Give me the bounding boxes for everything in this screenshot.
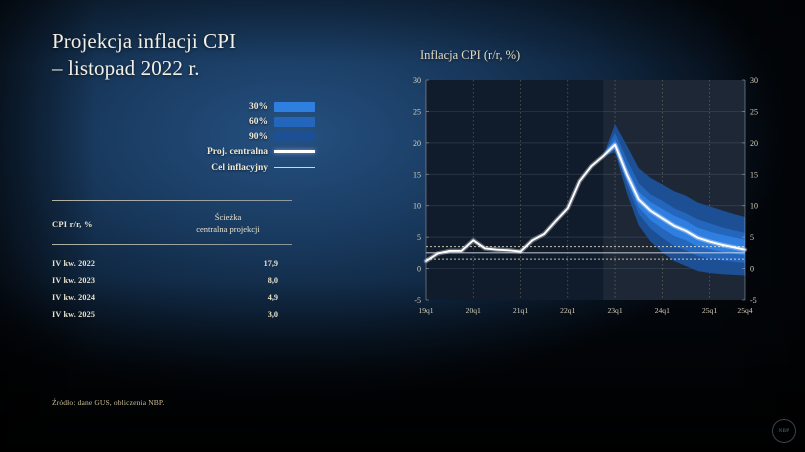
legend-line-central-projection (274, 150, 315, 153)
table-body: IV kw. 202217,9IV kw. 20238,0IV kw. 2024… (52, 255, 292, 323)
table-cell-period: IV kw. 2024 (52, 293, 164, 302)
legend-item-90: 90% (150, 130, 315, 143)
y-axis-tick-label-left: 10 (413, 202, 421, 211)
x-axis-tick-label: 25q1 (702, 306, 717, 315)
y-axis-tick-label-right: 30 (750, 76, 758, 85)
source-note: Źródło: dane GUS, obliczenia NBP. (52, 398, 164, 407)
table-header-col2: Ścieżka centralna projekcji (164, 211, 292, 236)
legend-label-90: 90% (249, 132, 268, 142)
y-axis-tick-label-left: 0 (417, 265, 421, 274)
x-axis-tick-label: 22q1 (560, 306, 575, 315)
x-axis-tick-label: 23q1 (607, 306, 622, 315)
x-axis-tick-label: 24q1 (655, 306, 670, 315)
y-axis-tick-label-right: -5 (750, 296, 757, 305)
table-cell-value: 3,0 (164, 310, 292, 319)
chart-legend: 30% 60% 90% Proj. centralna Cel inflacyj… (150, 100, 315, 177)
table-cell-period: IV kw. 2023 (52, 276, 164, 285)
table-rule-top (52, 200, 292, 201)
chart-canvas: 303025252020151510105500-5-519q120q121q1… (398, 40, 773, 315)
y-axis-tick-label-left: 20 (413, 139, 421, 148)
legend-line-inflation-target (274, 167, 315, 169)
title-line-2: – listopad 2022 r. (52, 55, 382, 82)
legend-label-60: 60% (249, 117, 268, 127)
legend-label-inflation-target: Cel inflacyjny (211, 163, 268, 173)
y-axis-tick-label-left: 5 (417, 233, 421, 242)
legend-swatch-30 (274, 102, 315, 112)
nbp-logo-text: NBP (779, 429, 790, 434)
y-axis-tick-label-right: 15 (750, 170, 758, 179)
nbp-logo-icon: NBP (772, 419, 796, 443)
legend-swatch-90 (274, 132, 315, 142)
y-axis-tick-label-right: 10 (750, 202, 758, 211)
x-axis-tick-label: 20q1 (466, 306, 481, 315)
table-row: IV kw. 202217,9 (52, 255, 292, 272)
inflation-fan-chart: Inflacja CPI (r/r, %) 303025252020151510… (398, 40, 773, 315)
table-cell-period: IV kw. 2022 (52, 259, 164, 268)
legend-item-central-projection: Proj. centralna (150, 145, 315, 158)
table-header-row: CPI r/r, % Ścieżka centralna projekcji (52, 211, 292, 236)
table-cell-value: 8,0 (164, 276, 292, 285)
x-axis-tick-label: 25q4 (737, 306, 752, 315)
legend-label-30: 30% (249, 102, 268, 112)
y-axis-tick-label-right: 5 (750, 233, 754, 242)
table-cell-value: 17,9 (164, 259, 292, 268)
y-axis-tick-label-left: 25 (413, 107, 421, 116)
title-line-1: Projekcja inflacji CPI (52, 29, 236, 53)
legend-item-30: 30% (150, 100, 315, 113)
y-axis-tick-label-left: 15 (413, 170, 421, 179)
table-rule-mid (52, 244, 292, 245)
table-header-col1: CPI r/r, % (52, 211, 164, 229)
table-header-col2-line2: centralna projekcji (164, 223, 292, 235)
table-row: IV kw. 20253,0 (52, 306, 292, 323)
legend-label-central-projection: Proj. centralna (207, 147, 268, 157)
legend-swatch-60 (274, 117, 315, 127)
y-axis-tick-label-right: 25 (750, 107, 758, 116)
cpi-table: CPI r/r, % Ścieżka centralna projekcji I… (52, 200, 292, 323)
y-axis-tick-label-right: 20 (750, 139, 758, 148)
table-row: IV kw. 20238,0 (52, 272, 292, 289)
x-axis-tick-label: 21q1 (513, 306, 528, 315)
table-cell-period: IV kw. 2025 (52, 310, 164, 319)
y-axis-tick-label-left: 30 (413, 76, 421, 85)
y-axis-tick-label-left: -5 (414, 296, 421, 305)
table-cell-value: 4,9 (164, 293, 292, 302)
legend-item-inflation-target: Cel inflacyjny (150, 161, 315, 174)
page-title: Projekcja inflacji CPI – listopad 2022 r… (52, 28, 382, 83)
legend-item-60: 60% (150, 115, 315, 128)
table-header-col2-line1: Ścieżka (215, 212, 241, 222)
x-axis-tick-label: 19q1 (418, 306, 433, 315)
y-axis-tick-label-right: 0 (750, 265, 754, 274)
table-row: IV kw. 20244,9 (52, 289, 292, 306)
